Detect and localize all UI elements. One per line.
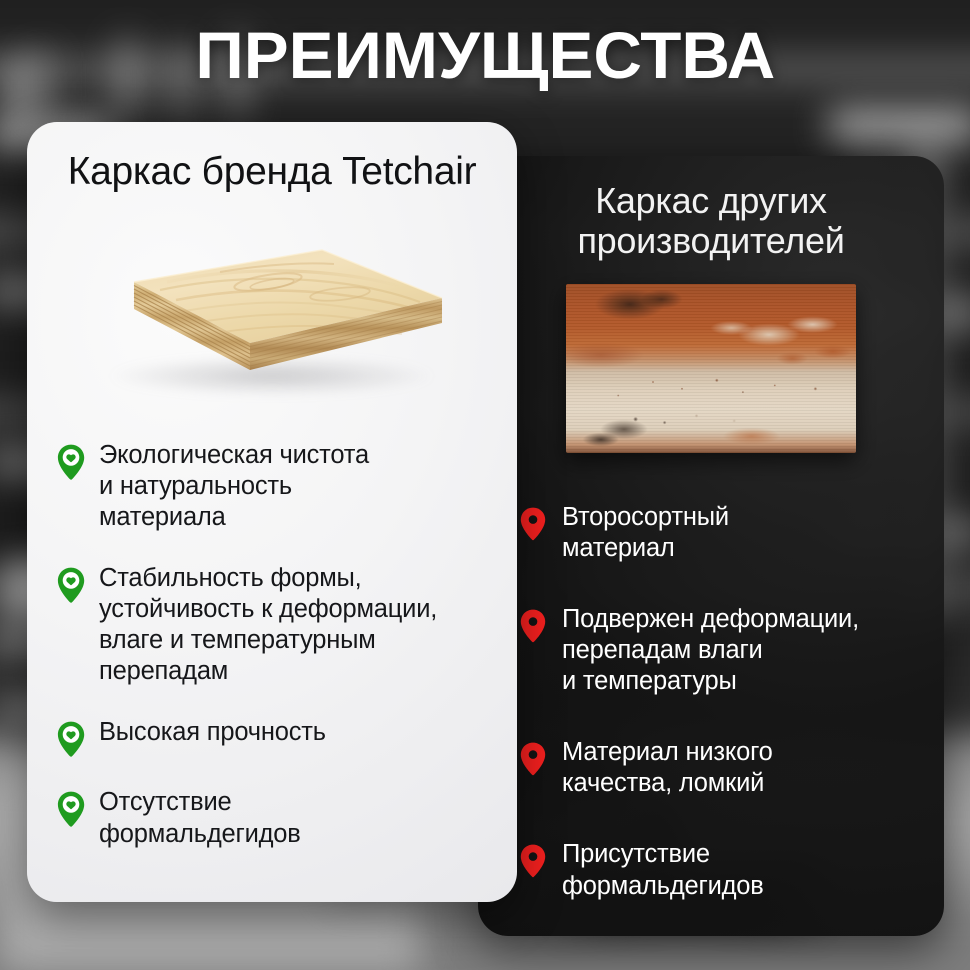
pin-location-icon	[520, 604, 546, 643]
weathered-wood-texture-image	[478, 284, 944, 474]
pin-heart-icon	[57, 440, 85, 480]
tetchair-card: Каркас бренда Tetchair	[27, 122, 517, 902]
list-item-label: Второсортный материал	[562, 502, 729, 564]
list-item-label: Материал низкого качества, ломкий	[562, 737, 773, 799]
pin-location-icon	[520, 839, 546, 878]
plywood-stage	[27, 210, 517, 424]
list-item: Стабильность формы, устойчивость к дефор…	[57, 563, 493, 687]
list-item: Материал низкого качества, ломкий	[520, 737, 926, 799]
list-item: Отсутствие формальдегидов	[57, 787, 493, 849]
tetchair-bullet-list: Экологическая чистота и натуральность ма…	[27, 440, 517, 850]
list-item: Экологическая чистота и натуральность ма…	[57, 440, 493, 533]
tetchair-card-title: Каркас бренда Tetchair	[27, 150, 517, 194]
list-item-label: Стабильность формы, устойчивость к дефор…	[99, 563, 437, 687]
plywood-sheet-image	[27, 210, 517, 424]
weathered-wood-texture-specks	[566, 284, 856, 453]
list-item-label: Присутствие формальдегидов	[562, 839, 764, 901]
competitor-bullet-list: Второсортный материал Подвержен деформац…	[478, 502, 944, 902]
plywood-svg	[72, 210, 472, 410]
pin-heart-icon	[57, 717, 85, 757]
page-title: ПРЕИМУЩЕСТВА	[195, 22, 775, 88]
list-item-label: Отсутствие формальдегидов	[99, 787, 301, 849]
pin-location-icon	[520, 502, 546, 541]
weathered-wood-texture-surface	[566, 284, 856, 453]
pin-heart-icon	[57, 787, 85, 827]
list-item-label: Подвержен деформации, перепадам влаги и …	[562, 604, 859, 697]
list-item-label: Высокая прочность	[99, 717, 326, 748]
competitor-card: Каркас других производителей Второсортны…	[478, 156, 944, 936]
list-item: Подвержен деформации, перепадам влаги и …	[520, 604, 926, 697]
pin-heart-icon	[57, 563, 85, 603]
competitor-card-title: Каркас других производителей	[478, 181, 944, 262]
list-item: Второсортный материал	[520, 502, 926, 564]
background-shelf	[830, 110, 970, 140]
list-item-label: Экологическая чистота и натуральность ма…	[99, 440, 369, 533]
page-header: ПРЕИМУЩЕСТВА	[0, 0, 970, 110]
list-item: Присутствие формальдегидов	[520, 839, 926, 901]
list-item: Высокая прочность	[57, 717, 493, 757]
pin-location-icon	[520, 737, 546, 776]
